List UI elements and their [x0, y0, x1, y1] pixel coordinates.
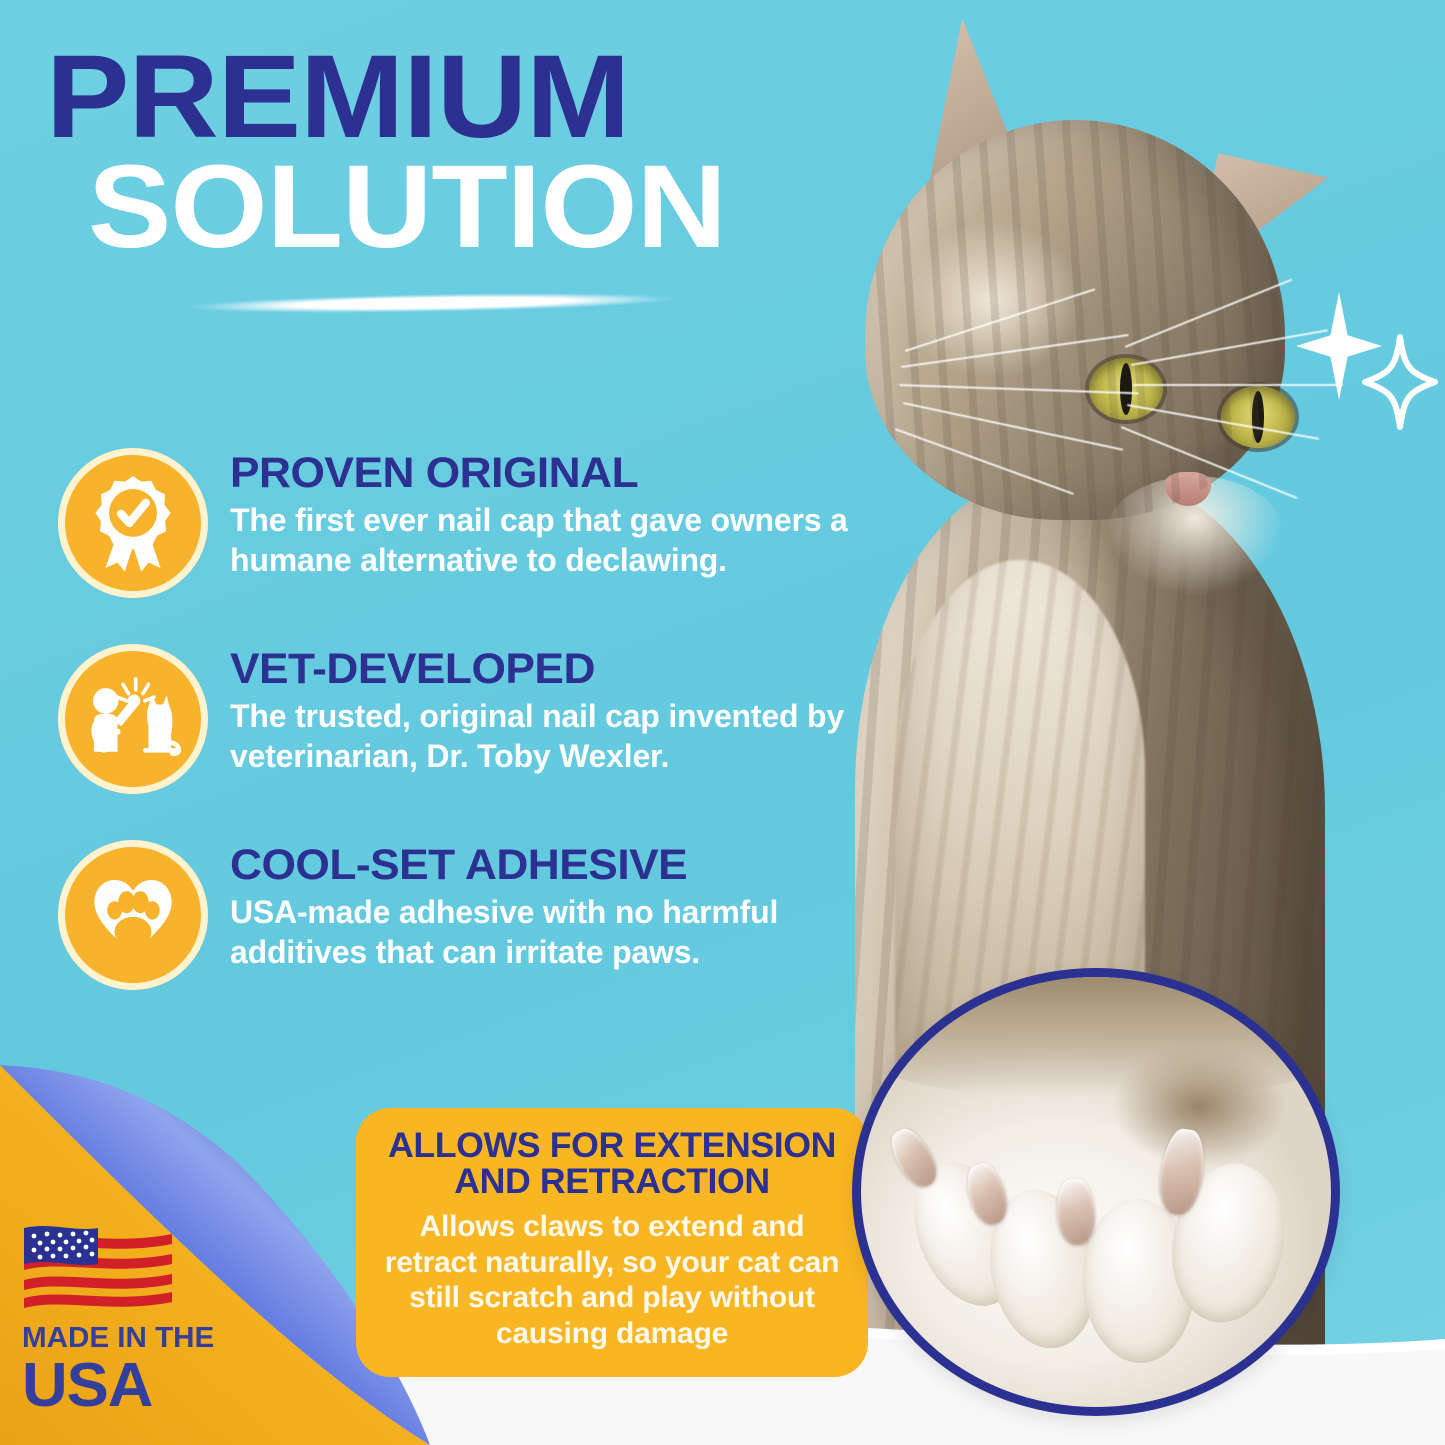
headline-line-1: PREMIUM [46, 46, 873, 150]
callout-title: ALLOWS FOR EXTENSION AND RETRACTION [373, 1128, 850, 1199]
feature-list: PROVEN ORIGINAL The first ever nail cap … [58, 448, 848, 1036]
feature-item: VET-DEVELOPED The trusted, original nail… [58, 644, 848, 794]
cat-whiskers [895, 340, 1315, 570]
swoosh-underline [182, 288, 682, 319]
made-in-usa-line-2: USA [22, 1355, 257, 1417]
feature-description: The trusted, original nail cap invented … [230, 697, 848, 776]
callout-body: Allows claws to extend and retract natur… [378, 1209, 846, 1351]
product-infographic: PREMIUM SOLUTION PROVEN ORIGINAL The fir… [0, 0, 1445, 1445]
sparkle-outline-icon [1362, 334, 1438, 430]
callout-title-line-2: AND RETRACTION [454, 1162, 770, 1201]
feature-item: COOL-SET ADHESIVE USA-made adhesive with… [58, 840, 848, 990]
award-ribbon-check-icon [58, 448, 208, 598]
feature-item: PROVEN ORIGINAL The first ever nail cap … [58, 448, 848, 598]
paw-upper-fur [852, 968, 1340, 1097]
callout-title-line-1: ALLOWS FOR EXTENSION [388, 1126, 836, 1165]
feature-description: USA-made adhesive with no harmful additi… [230, 893, 848, 972]
feature-title: PROVEN ORIGINAL [230, 452, 867, 495]
headline-line-2: SOLUTION [88, 156, 870, 260]
feature-title: COOL-SET ADHESIVE [230, 844, 867, 887]
vet-high-five-cat-icon [58, 644, 208, 794]
feature-title: VET-DEVELOPED [230, 648, 867, 691]
extension-retraction-callout: ALLOWS FOR EXTENSION AND RETRACTION Allo… [356, 1108, 868, 1377]
heart-paw-print-icon [58, 840, 208, 990]
headline: PREMIUM SOLUTION [46, 46, 826, 260]
made-in-usa-line-1: MADE IN THE [22, 1324, 257, 1353]
feature-description: The first ever nail cap that gave owners… [230, 501, 848, 580]
made-in-usa-badge: MADE IN THE USA [22, 1220, 252, 1417]
cat-paw-with-nail-caps-closeup [852, 968, 1340, 1416]
usa-flag-icon [22, 1220, 174, 1312]
